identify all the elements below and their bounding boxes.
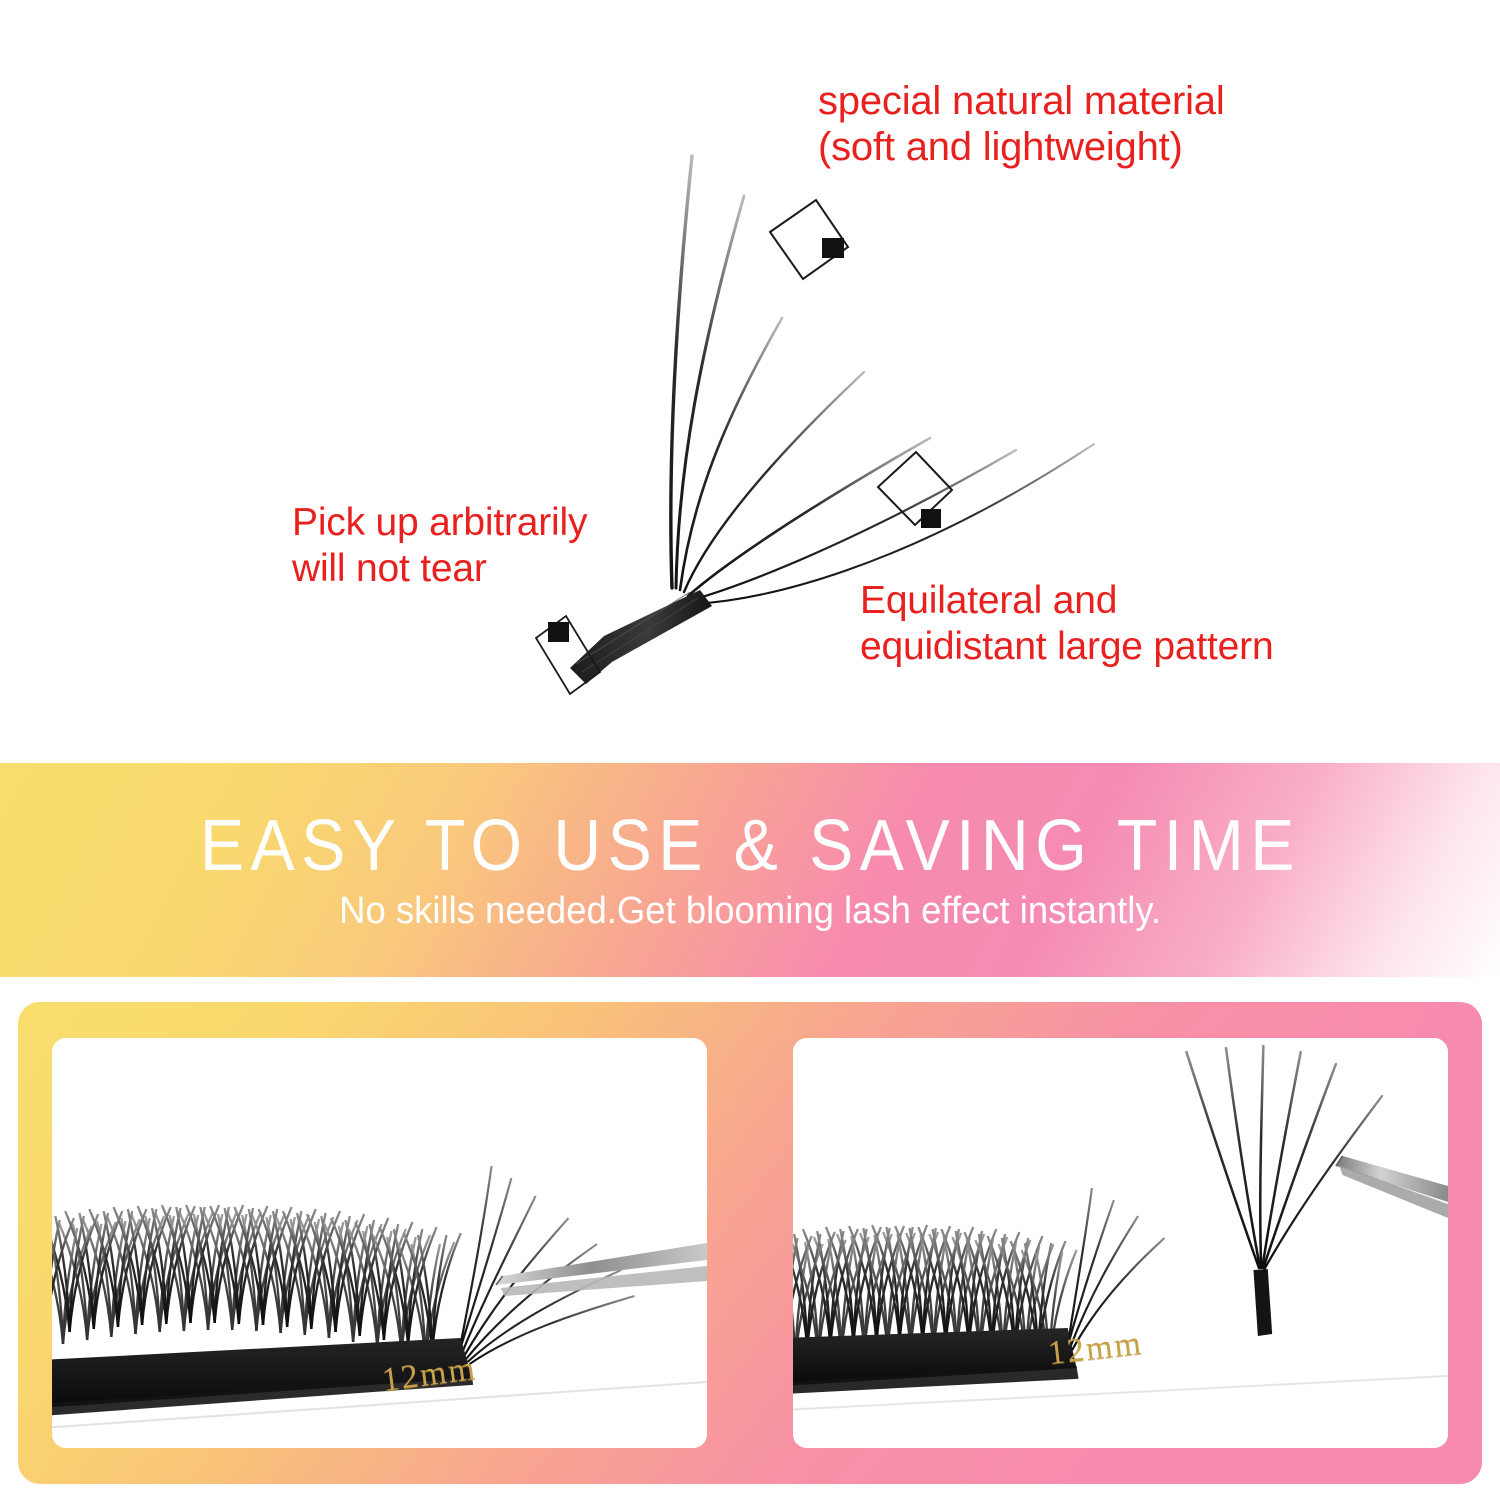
product-feature-page: special natural material (soft and light… <box>0 0 1500 1500</box>
lash-fan-diagram <box>0 0 1500 763</box>
lash-fan-base <box>570 590 712 684</box>
callout-square-marker <box>878 452 952 528</box>
promo-banner: EASY TO USE & SAVING TIME No skills need… <box>0 763 1500 977</box>
callout-square-marker <box>536 616 600 694</box>
showcase-card-lash-tray[interactable]: 12mm <box>52 1038 707 1448</box>
lash-fibers <box>671 156 1094 604</box>
banner-subtitle: No skills needed.Get blooming lash effec… <box>339 892 1161 930</box>
lash-fan-pickup-photo <box>793 1038 1448 1448</box>
banner-title: EASY TO USE & SAVING TIME <box>200 810 1301 882</box>
callout-equilateral: Equilateral and equidistant large patter… <box>860 578 1273 669</box>
showcase-section: 12mm <box>18 1002 1482 1484</box>
showcase-card-lash-pickup[interactable]: 12mm <box>793 1038 1448 1448</box>
hero-section: special natural material (soft and light… <box>0 0 1500 763</box>
callout-special-material: special natural material (soft and light… <box>818 78 1225 170</box>
callout-pick-up: Pick up arbitrarily will not tear <box>292 500 587 591</box>
lash-tray-photo <box>52 1038 707 1448</box>
callout-square-marker <box>770 200 848 279</box>
